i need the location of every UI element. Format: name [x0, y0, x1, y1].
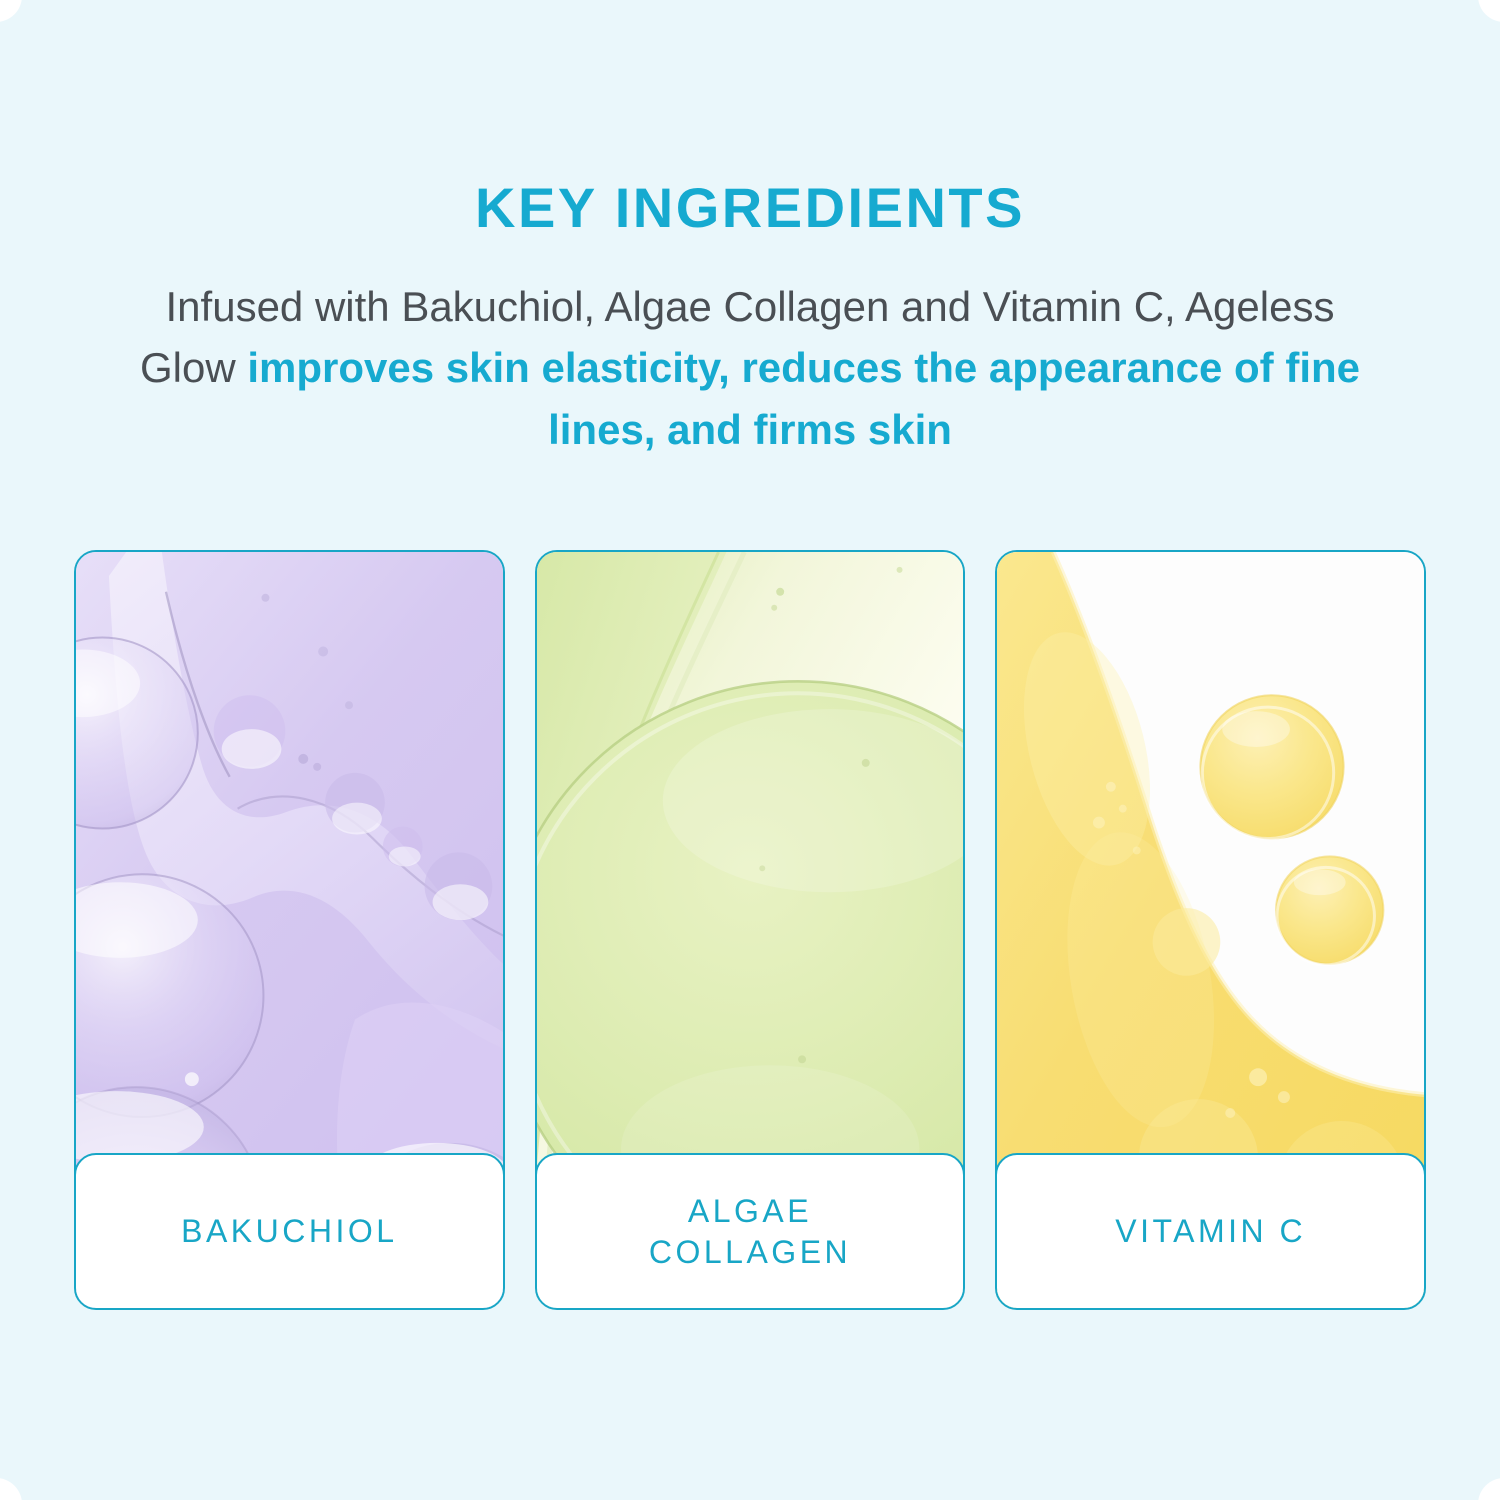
- ingredient-label-text: VITAMIN C: [1115, 1211, 1306, 1252]
- ingredient-card-vitamin-c[interactable]: VITAMIN C: [995, 550, 1426, 1310]
- ingredient-card-algae-collagen[interactable]: ALGAE COLLAGEN: [535, 550, 966, 1310]
- ingredient-card-bakuchiol[interactable]: BAKUCHIOL: [74, 550, 505, 1310]
- header: KEY INGREDIENTS Infused with Bakuchiol, …: [0, 180, 1500, 460]
- ingredient-label-text: ALGAE COLLAGEN: [649, 1191, 851, 1273]
- ingredient-label-plate: ALGAE COLLAGEN: [535, 1153, 966, 1310]
- ingredient-card-list: BAKUCHIOL: [74, 550, 1426, 1310]
- ingredient-label-plate: BAKUCHIOL: [74, 1153, 505, 1310]
- subcopy-highlight: improves skin elasticity, reduces the ap…: [247, 344, 1360, 452]
- page-title: KEY INGREDIENTS: [0, 180, 1500, 236]
- ingredient-label-plate: VITAMIN C: [995, 1153, 1426, 1310]
- subcopy: Infused with Bakuchiol, Algae Collagen a…: [0, 276, 1500, 460]
- key-ingredients-panel: KEY INGREDIENTS Infused with Bakuchiol, …: [0, 0, 1500, 1500]
- ingredient-label-text: BAKUCHIOL: [181, 1211, 397, 1252]
